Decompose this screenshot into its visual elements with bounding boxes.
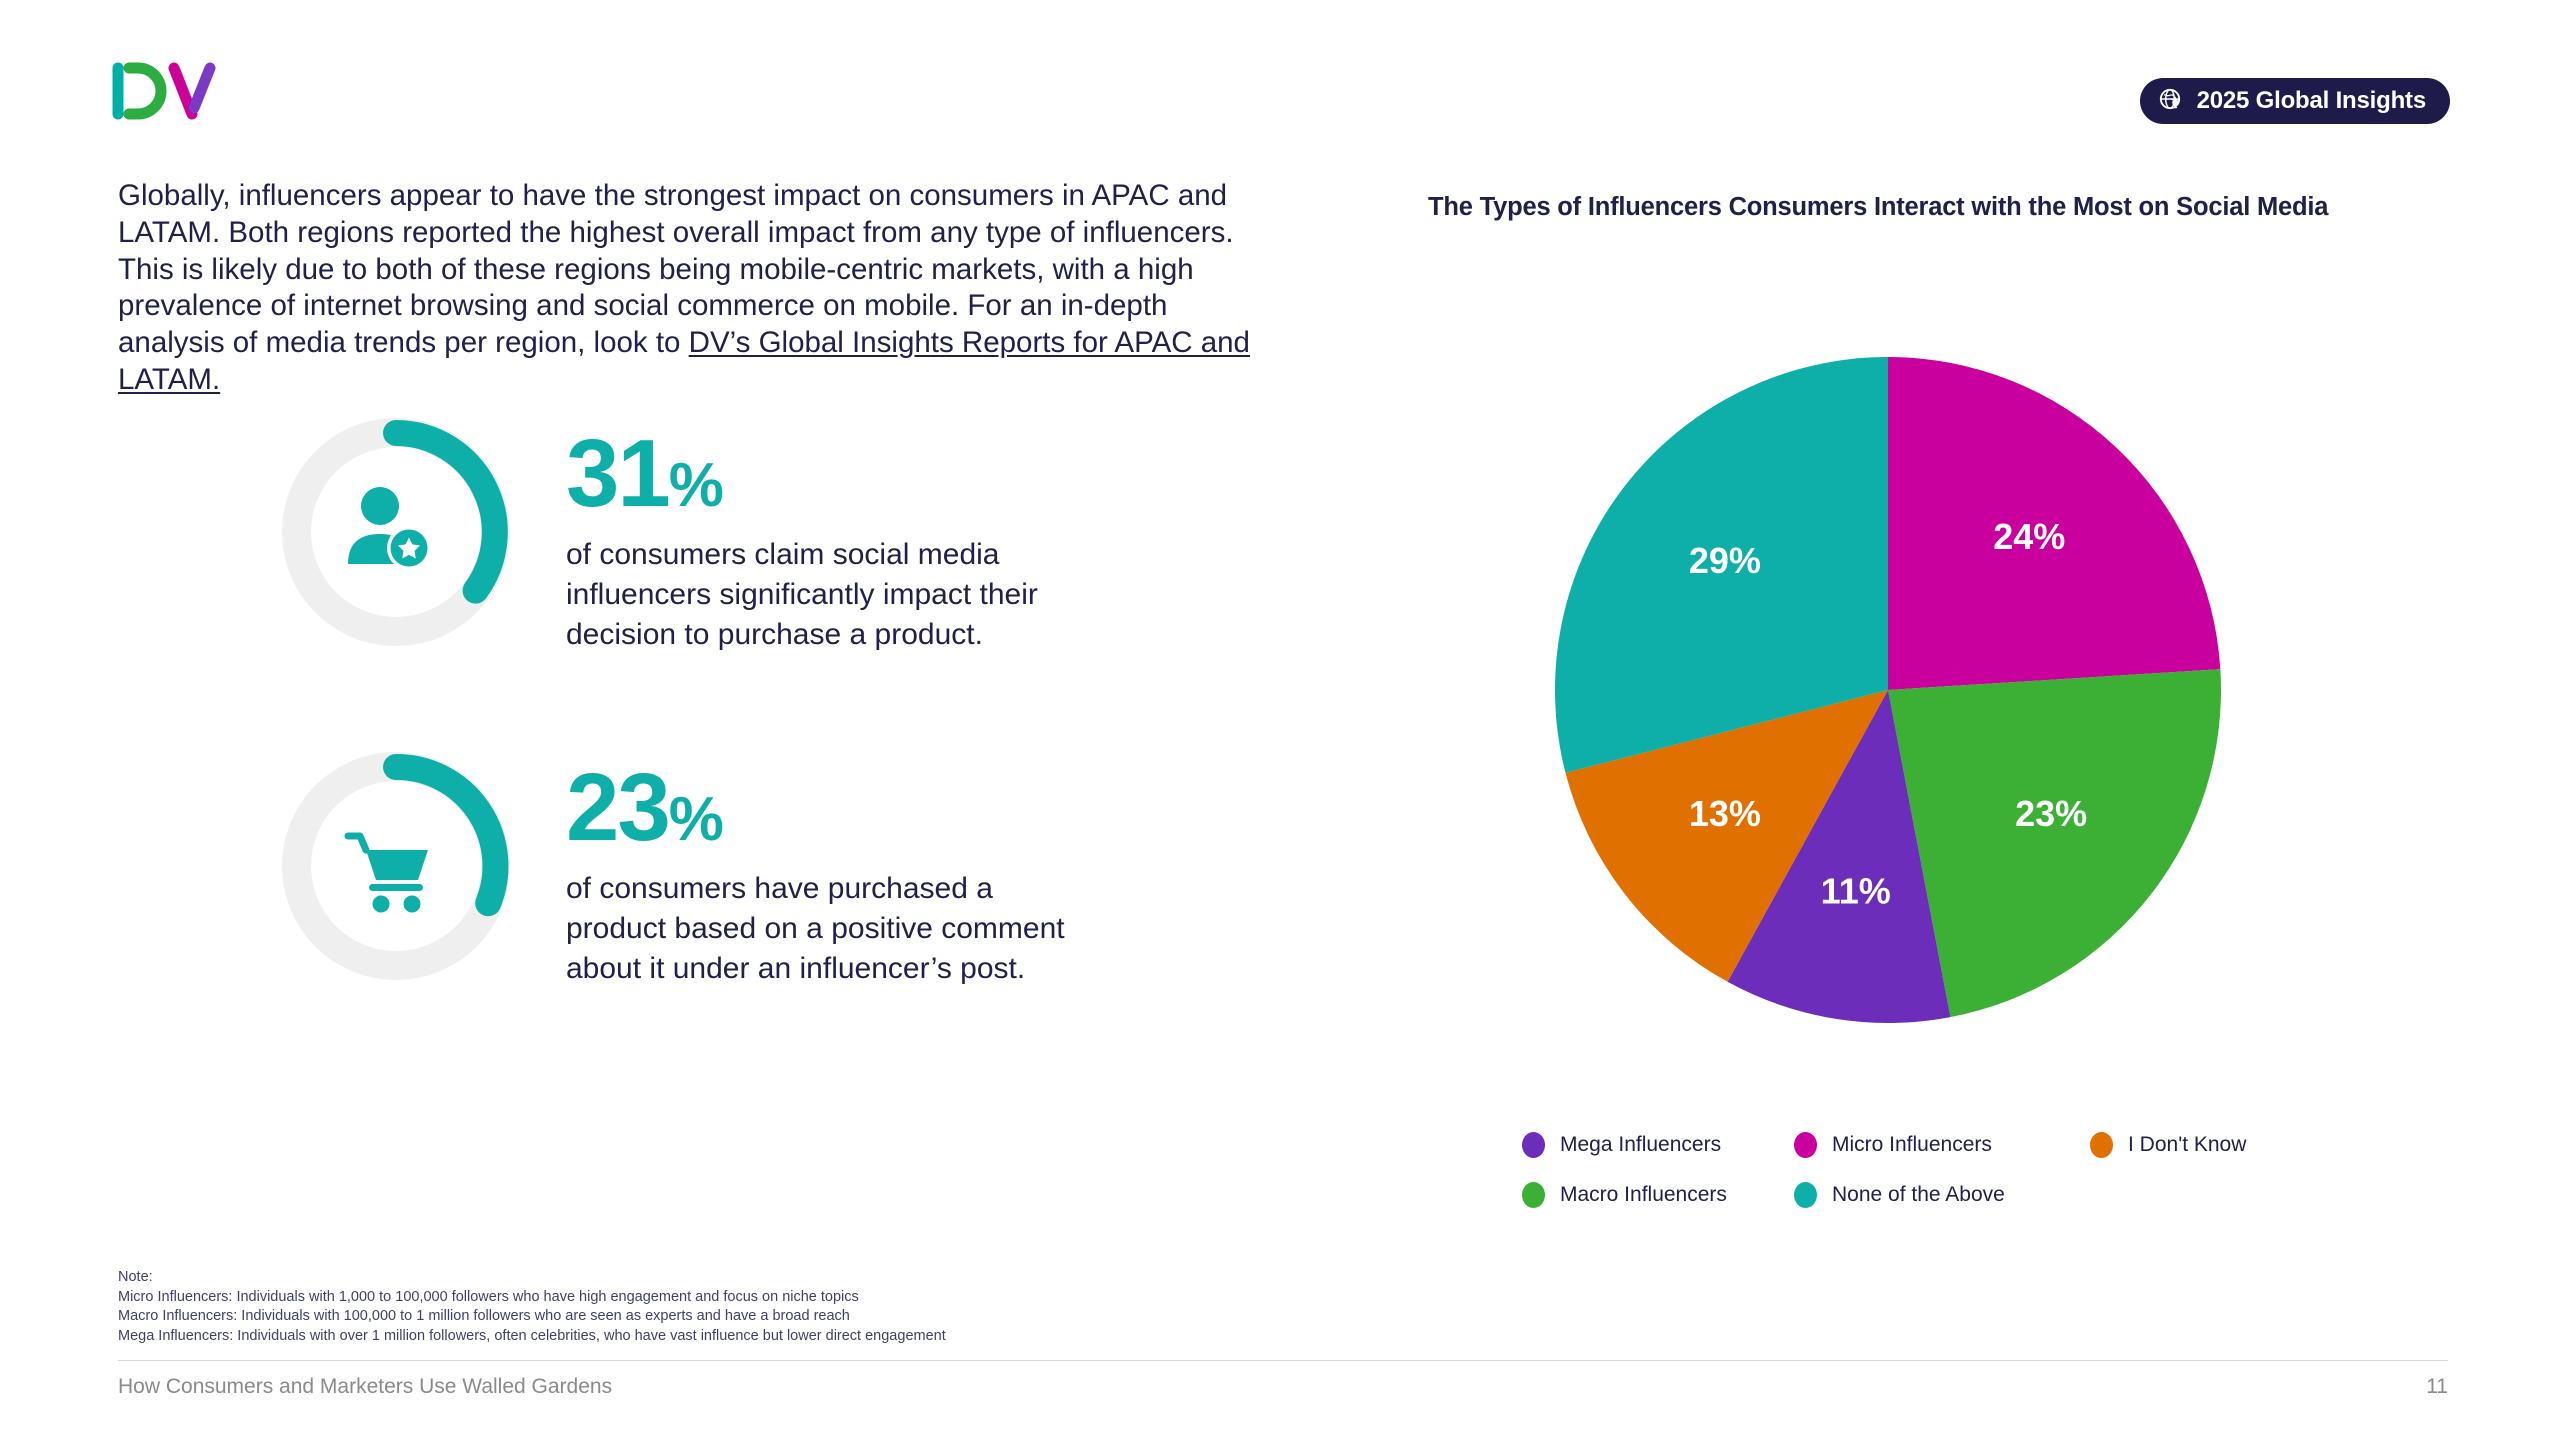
stat-value-23: 23% [566, 762, 1096, 853]
legend-color-swatch [2090, 1132, 2113, 1158]
legend-color-swatch [1794, 1182, 1817, 1208]
legend-label: Macro Influencers [1560, 1183, 1727, 1207]
dv-logo [112, 62, 222, 120]
legend-item-mega-influencers[interactable]: Mega Influencers [1522, 1132, 1794, 1158]
footnote: Note: Micro Influencers: Individuals wit… [118, 1268, 946, 1346]
stat-percent-symbol: % [669, 785, 722, 854]
footnote-line-mega: Mega Influencers: Individuals with over … [118, 1327, 946, 1347]
legend-item-none-of-the-above[interactable]: None of the Above [1794, 1182, 2090, 1208]
legend-item-i-dont-know[interactable]: I Don't Know [2090, 1132, 2282, 1158]
stat-text-31: 31% of consumers claim social media infl… [566, 418, 1096, 655]
pie-slice-label: 23% [2015, 793, 2087, 834]
legend-label: I Don't Know [2128, 1133, 2246, 1157]
stat-text-23: 23% of consumers have purchased a produc… [566, 752, 1096, 989]
chart-legend: Mega Influencers Micro Influencers I Don… [1522, 1120, 2282, 1220]
stat-percent-symbol: % [669, 451, 722, 520]
stat-card-23: 23% of consumers have purchased a produc… [282, 752, 1096, 989]
legend-label: None of the Above [1832, 1183, 2005, 1207]
stat-description-23: of consumers have purchased a product ba… [566, 869, 1096, 989]
footnote-heading: Note: [118, 1268, 946, 1288]
global-insights-badge[interactable]: 2025 Global Insights [2140, 78, 2450, 124]
legend-color-swatch [1522, 1182, 1545, 1208]
stat-card-31: 31% of consumers claim social media infl… [282, 418, 1096, 655]
globe-lightbulb-icon [2158, 87, 2186, 115]
pie-slice-label: 24% [1993, 516, 2065, 557]
chart-title: The Types of Influencers Consumers Inter… [1428, 193, 2328, 222]
footnote-line-micro: Micro Influencers: Individuals with 1,00… [118, 1288, 946, 1308]
legend-item-macro-influencers[interactable]: Macro Influencers [1522, 1182, 1794, 1208]
footer-divider [118, 1360, 2448, 1361]
pie-slice-label: 29% [1689, 540, 1761, 581]
stat-value-31: 31% [566, 428, 1096, 519]
footer-title: How Consumers and Marketers Use Walled G… [118, 1375, 612, 1399]
pie-chart: 24%23%11%13%29% [1548, 350, 2228, 1030]
intro-paragraph: Globally, influencers appear to have the… [118, 178, 1253, 399]
donut-chart-23 [282, 752, 510, 980]
donut-chart-31 [282, 418, 510, 646]
pie-slice-label: 13% [1689, 793, 1761, 834]
legend-color-swatch [1794, 1132, 1817, 1158]
legend-label: Mega Influencers [1560, 1133, 1721, 1157]
pie-slice-label: 11% [1821, 870, 1891, 911]
badge-label: 2025 Global Insights [2197, 87, 2426, 115]
legend-item-micro-influencers[interactable]: Micro Influencers [1794, 1132, 2090, 1158]
legend-color-swatch [1522, 1132, 1545, 1158]
footer-page-number: 11 [2426, 1375, 2448, 1399]
stat-description-31: of consumers claim social media influenc… [566, 535, 1096, 655]
stat-number: 31 [566, 420, 669, 527]
footnote-line-macro: Macro Influencers: Individuals with 100,… [118, 1307, 946, 1327]
legend-label: Micro Influencers [1832, 1133, 1992, 1157]
slide-canvas: 2025 Global Insights Globally, influence… [0, 0, 2560, 1440]
person-star-icon [336, 476, 446, 586]
stat-number: 23 [566, 754, 669, 861]
shopping-cart-icon [336, 810, 446, 920]
